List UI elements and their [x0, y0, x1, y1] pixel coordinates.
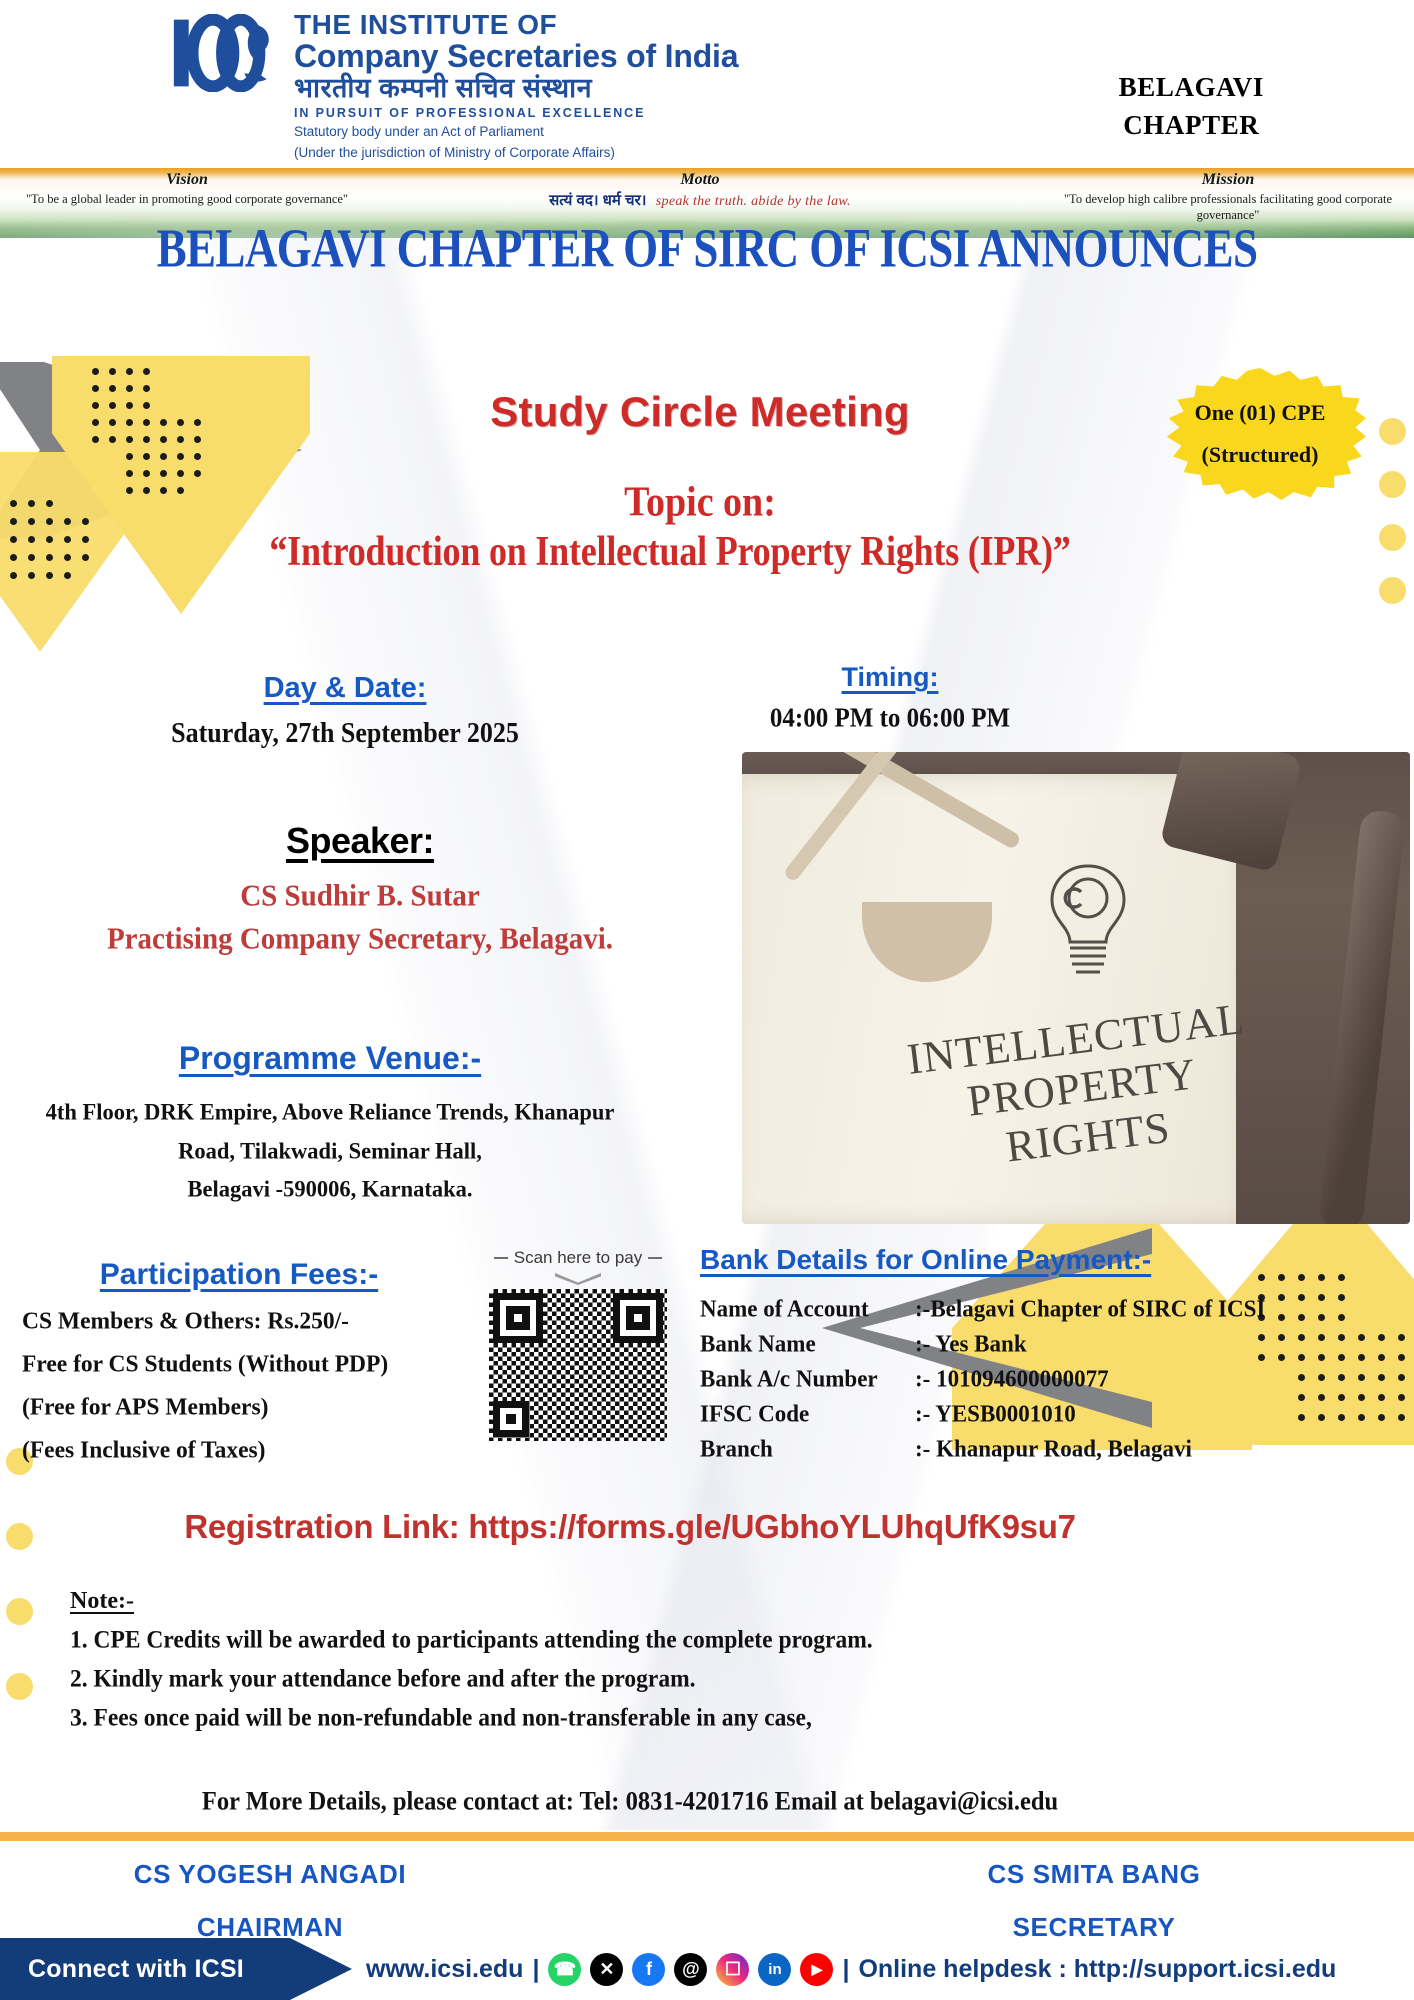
note-item: 3. Fees once paid will be non-refundable…	[70, 1704, 1170, 1733]
motto-column: Motto सत्यं वद। धर्म चर। speak the truth…	[370, 171, 1030, 211]
topic-title: “Introduction on Intellectual Property R…	[40, 526, 1300, 576]
bank-row-value: :- YESB0001010	[915, 1396, 1400, 1433]
speaker-name: CS Sudhir B. Sutar	[60, 879, 660, 914]
logo-line-2: Company Secretaries of India	[294, 40, 738, 74]
lightbulb-copyright-icon	[1042, 862, 1134, 982]
venue-line-3: Belagavi -590006, Karnataka.	[20, 1169, 640, 1210]
connect-with-icsi-label: Connect with ICSI	[0, 1955, 244, 1984]
logo-tagline: IN PURSUIT OF PROFESSIONAL EXCELLENCE	[294, 106, 738, 120]
signatory-right-name: CS SMITA BANG	[844, 1848, 1344, 1901]
fees-line-2: Free for CS Students (Without PDP)	[4, 1350, 474, 1378]
chapter-line-2: CHAPTER	[1119, 106, 1264, 144]
logo-subline-2: (Under the jurisdiction of Ministry of C…	[294, 144, 738, 162]
bank-row: IFSC Code :- YESB0001010	[700, 1396, 1400, 1433]
topic-label: Topic on:	[300, 477, 1100, 526]
bank-row-key: Bank Name	[700, 1326, 915, 1363]
timing-value: 04:00 PM to 06:00 PM	[660, 704, 1120, 735]
bank-row-key: Name of Account	[700, 1291, 915, 1328]
bank-row: Bank Name :- Yes Bank	[700, 1326, 1400, 1363]
bank-row-value: :-Belagavi Chapter of SIRC of ICSI	[915, 1291, 1400, 1328]
day-date-block: Day & Date: Saturday, 27th September 202…	[110, 672, 580, 748]
vision-text: "To be a global leader in promoting good…	[22, 191, 352, 207]
mission-title: Mission	[1058, 171, 1398, 189]
timing-label: Timing:	[842, 662, 939, 692]
bank-row-value: :- Khanapur Road, Belagavi	[915, 1431, 1400, 1468]
venue-block: Programme Venue:- 4th Floor, DRK Empire,…	[20, 1040, 640, 1209]
cpe-line-1: One (01) CPE	[1195, 392, 1326, 434]
bank-details-label: Bank Details for Online Payment:-	[700, 1244, 1151, 1275]
event-type-title: Study Circle Meeting	[300, 388, 1100, 436]
poster-root: THE INSTITUTE OF Company Secretaries of …	[0, 0, 1414, 2000]
bank-row: Bank A/c Number :- 101094600000077	[700, 1361, 1400, 1398]
vision-title: Vision	[22, 171, 352, 189]
motto-sanskrit: सत्यं वद। धर्म चर।	[549, 192, 646, 209]
note-item: 2. Kindly mark your attendance before an…	[70, 1665, 1170, 1694]
icsi-logo-icon	[168, 14, 280, 92]
speaker-label: Speaker:	[286, 820, 434, 861]
bank-row-key: Branch	[700, 1431, 915, 1468]
vision-column: Vision "To be a global leader in promoti…	[22, 171, 352, 207]
whatsapp-icon[interactable]: ☎	[548, 1953, 581, 1986]
notes-label: Note:-	[70, 1588, 134, 1614]
chapter-line-1: BELAGAVI	[1119, 68, 1264, 106]
mission-column: Mission "To develop high calibre profess…	[1058, 171, 1398, 223]
chapter-name: BELAGAVI CHAPTER	[1119, 68, 1264, 145]
fees-line-1: CS Members & Others: Rs.250/-	[4, 1307, 474, 1335]
instagram-icon[interactable]: ☐	[716, 1953, 749, 1986]
connect-with-icsi-tab: Connect with ICSI	[0, 1938, 352, 2000]
linkedin-icon[interactable]: in	[758, 1953, 791, 1986]
venue-label: Programme Venue:-	[179, 1040, 481, 1076]
speaker-role: Practising Company Secretary, Belagavi.	[60, 922, 660, 957]
day-date-label: Day & Date:	[264, 672, 427, 704]
decor-grey-chevron-topleft	[0, 362, 302, 538]
qr-finder-pattern	[493, 1401, 529, 1437]
bank-row: Name of Account :-Belagavi Chapter of SI…	[700, 1291, 1400, 1328]
ipr-photo: INTELLECTUAL PROPERTY RIGHTS	[742, 752, 1410, 1224]
logo-subline-1: Statutory body under an Act of Parliamen…	[294, 123, 738, 141]
scan-to-pay-label: Scan here to pay	[478, 1248, 678, 1268]
bank-row-value: :- 101094600000077	[915, 1361, 1400, 1398]
icsi-logo-block: THE INSTITUTE OF Company Secretaries of …	[168, 8, 738, 162]
bank-row-key: Bank A/c Number	[700, 1361, 915, 1398]
signatory-left-name: CS YOGESH ANGADI	[20, 1848, 520, 1901]
icsi-logo-text: THE INSTITUTE OF Company Secretaries of …	[294, 8, 738, 162]
qr-code-icon[interactable]	[489, 1289, 667, 1441]
bank-details-block: Bank Details for Online Payment:- Name o…	[700, 1244, 1400, 1467]
poster-footer: Connect with ICSI www.icsi.edu | ☎ ✕ f @…	[0, 1938, 1414, 2000]
youtube-icon[interactable]: ▶	[800, 1953, 833, 1986]
logo-hindi-line: भारतीय कम्पनी सचिव संस्थान	[294, 73, 738, 103]
cpe-line-2: (Structured)	[1202, 434, 1319, 476]
day-date-value: Saturday, 27th September 2025	[110, 717, 580, 750]
footer-separator-2: |	[842, 1955, 849, 1984]
motto-text: सत्यं वद। धर्म चर। speak the truth. abid…	[370, 191, 1030, 211]
registration-link[interactable]: Registration Link: https://forms.gle/UGb…	[0, 1508, 1260, 1546]
signature-divider	[0, 1832, 1414, 1841]
note-item: 1. CPE Credits will be awarded to partic…	[70, 1626, 1170, 1655]
venue-line-1: 4th Floor, DRK Empire, Above Reliance Tr…	[20, 1092, 640, 1133]
threads-icon[interactable]: @	[674, 1953, 707, 1986]
footer-links: www.icsi.edu | ☎ ✕ f @ ☐ in ▶ | Online h…	[366, 1938, 1336, 2000]
cpe-credit-badge: One (01) CPE (Structured)	[1154, 368, 1366, 500]
announcement-headline: BELAGAVI CHAPTER OF SIRC OF ICSI ANNOUNC…	[0, 216, 1414, 279]
participation-fees-block: Participation Fees:- CS Members & Others…	[4, 1258, 474, 1464]
fees-line-3: (Free for APS Members)	[4, 1393, 474, 1421]
bank-details-rows: Name of Account :-Belagavi Chapter of SI…	[700, 1292, 1400, 1467]
payment-qr-block[interactable]: Scan here to pay	[478, 1248, 678, 1441]
motto-english: speak the truth. abide by the law.	[656, 194, 851, 209]
helpdesk-link[interactable]: Online helpdesk : http://support.icsi.ed…	[858, 1955, 1336, 1984]
participation-fees-label: Participation Fees:-	[4, 1258, 474, 1292]
bank-row: Branch :- Khanapur Road, Belagavi	[700, 1431, 1400, 1468]
motto-title: Motto	[370, 171, 1030, 189]
fees-line-4: (Fees Inclusive of Taxes)	[4, 1436, 474, 1464]
bank-row-key: IFSC Code	[700, 1396, 915, 1433]
timing-block: Timing: 04:00 PM to 06:00 PM	[660, 662, 1120, 733]
contact-line: For More Details, please contact at: Tel…	[0, 1787, 1260, 1817]
mission-text: "To develop high calibre professionals f…	[1058, 191, 1398, 224]
speaker-block: Speaker: CS Sudhir B. Sutar Practising C…	[60, 820, 660, 956]
chevron-down-icon	[555, 1273, 601, 1285]
footer-separator-1: |	[532, 1955, 539, 1984]
poster-header: THE INSTITUTE OF Company Secretaries of …	[0, 0, 1414, 168]
notes-block: Note:- 1. CPE Credits will be awarded to…	[70, 1588, 1170, 1732]
logo-line-1: THE INSTITUTE OF	[294, 10, 738, 40]
decor-left-circles	[6, 1448, 33, 1748]
venue-line-2: Road, Tilakwadi, Seminar Hall,	[20, 1131, 640, 1172]
facebook-icon[interactable]: f	[632, 1953, 665, 1986]
website-link[interactable]: www.icsi.edu	[366, 1955, 523, 1984]
decor-right-circles	[1379, 418, 1406, 630]
x-twitter-icon[interactable]: ✕	[590, 1953, 623, 1986]
bank-row-value: :- Yes Bank	[915, 1326, 1400, 1363]
